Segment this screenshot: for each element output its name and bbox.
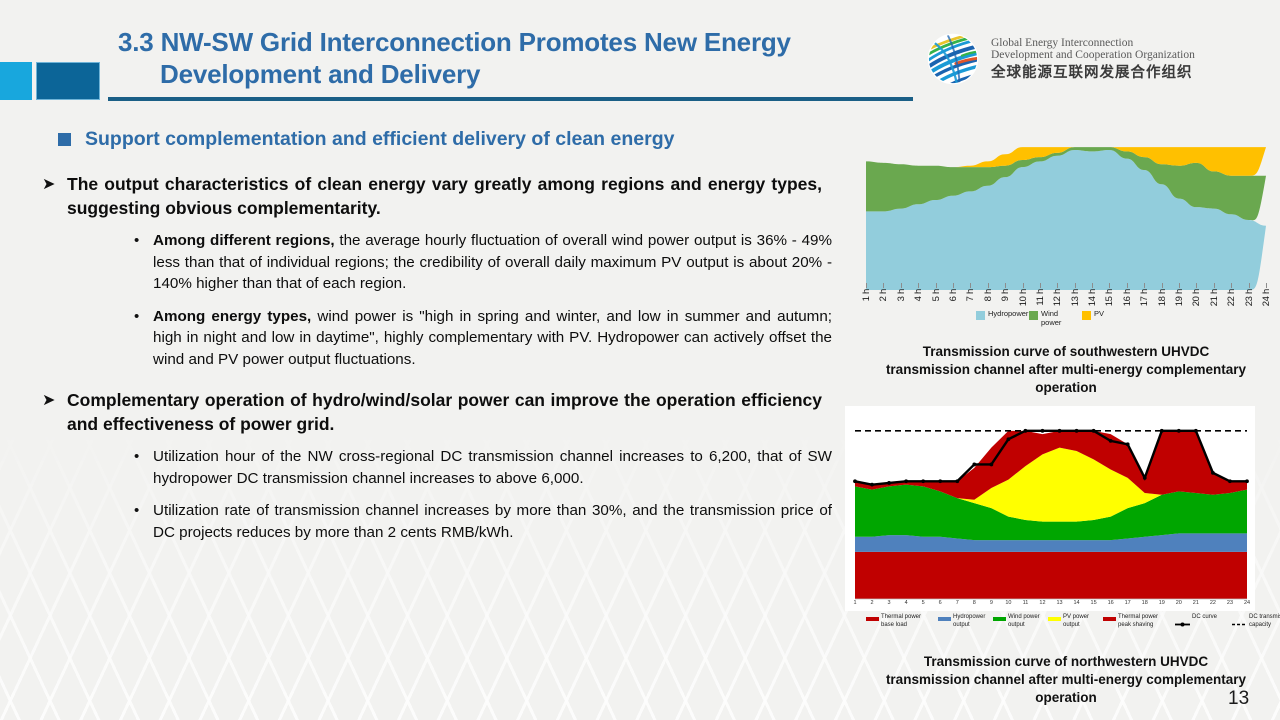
legend-item: Hydropower output: [938, 614, 986, 629]
legend-label: Hydropower output: [953, 614, 986, 629]
page-title-line1: 3.3 NW-SW Grid Interconnection Promotes …: [118, 27, 791, 57]
list-item: • Among different regions, the average h…: [134, 230, 832, 295]
axis-tick-label: 19: [1159, 600, 1165, 606]
axis-tick-label: 2 h: [878, 289, 889, 301]
axis-tick-label: 2: [871, 600, 874, 606]
northwestern-uhvdc-chart-svg: [845, 406, 1255, 611]
legend-item: Thermal power base load: [866, 614, 931, 629]
axis-tick-label: 11: [1023, 600, 1029, 606]
dot-bullet-icon: •: [134, 306, 142, 371]
axis-tick-label: 21 h: [1209, 289, 1220, 306]
list-item-label: Among energy types, wind power is "high …: [153, 306, 832, 371]
dot-bullet-icon: •: [134, 500, 142, 543]
axis-tick-label: 9: [990, 600, 993, 606]
axis-tick: [1040, 283, 1041, 288]
axis-tick: [1057, 283, 1058, 288]
axis-tick-label: 11 h: [1035, 289, 1046, 306]
legend-label: PV power output: [1063, 614, 1096, 629]
axis-tick-label: 16: [1108, 600, 1114, 606]
legend-label: PV: [1094, 310, 1104, 319]
axis-tick-label: 10: [1005, 600, 1011, 606]
axis-tick-label: 15: [1091, 600, 1097, 606]
southwestern-uhvdc-chart: [866, 130, 1266, 290]
axis-tick: [936, 283, 937, 288]
northwestern-uhvdc-chart-xaxis: 123456789101112131415161718192021222324: [845, 600, 1255, 612]
legend-line-marker-icon: [1175, 615, 1190, 633]
axis-tick-label: 14: [1074, 600, 1080, 606]
axis-tick-label: 8: [973, 600, 976, 606]
axis-tick-label: 7: [956, 600, 959, 606]
axis-tick: [1249, 283, 1250, 288]
legend-swatch: [938, 617, 951, 621]
axis-tick-label: 17: [1125, 600, 1131, 606]
axis-tick-label: 1: [853, 600, 856, 606]
slide-body: Support complementation and efficient de…: [42, 128, 832, 554]
arrow-bullet-icon: ➤: [42, 389, 58, 436]
list-item-lead: Among energy types,: [153, 308, 311, 325]
list-item: • Utilization hour of the NW cross-regio…: [134, 446, 832, 489]
logo-en-line2: Development and Cooperation Organization: [991, 49, 1195, 62]
legend-label: DC curve: [1192, 614, 1225, 622]
list-item: • Utilization rate of transmission chann…: [134, 500, 832, 543]
axis-tick: [1144, 283, 1145, 288]
legend-dashed-line-icon: [1232, 615, 1247, 633]
legend-swatch: [1103, 617, 1116, 621]
axis-tick: [918, 283, 919, 288]
northwestern-uhvdc-chart-caption: Transmission curve of northwestern UHVDC…: [881, 653, 1251, 707]
axis-tick-label: 21: [1193, 600, 1199, 606]
header-accent-block-cyan: [0, 62, 32, 100]
axis-tick-label: 5 h: [931, 289, 942, 301]
axis-tick-label: 19 h: [1174, 289, 1185, 306]
axis-tick: [1109, 283, 1110, 288]
axis-tick-label: 23: [1227, 600, 1233, 606]
legend-label: Thermal power base load: [881, 614, 931, 629]
square-bullet-icon: [58, 133, 71, 146]
axis-tick-label: 6: [939, 600, 942, 606]
axis-tick-label: 16 h: [1122, 289, 1133, 306]
axis-tick-label: 22: [1210, 600, 1216, 606]
axis-tick-label: 9 h: [1000, 289, 1011, 301]
axis-tick: [970, 283, 971, 288]
globe-logo-icon: [925, 31, 981, 87]
list-item-label: Utilization rate of transmission channel…: [153, 500, 832, 543]
list-item: ➤ Complementary operation of hydro/wind/…: [42, 389, 832, 436]
legend-swatch: [1029, 311, 1038, 320]
legend-label: Wind power output: [1008, 614, 1041, 629]
legend-label: Hydropower: [988, 310, 1021, 319]
list-item-label: Among different regions, the average hou…: [153, 230, 832, 295]
southwestern-uhvdc-chart-xaxis: 1 h2 h3 h4 h5 h6 h7 h8 h9 h10 h11 h12 h1…: [866, 283, 1266, 311]
axis-tick: [1231, 283, 1232, 288]
axis-tick-label: 6 h: [948, 289, 959, 301]
header-divider-rule: [108, 97, 913, 101]
axis-tick: [1214, 283, 1215, 288]
axis-tick: [1005, 283, 1006, 288]
page-title: 3.3 NW-SW Grid Interconnection Promotes …: [118, 26, 908, 90]
legend-item: Hydropower: [976, 310, 1021, 320]
axis-tick-label: 12 h: [1052, 289, 1063, 306]
axis-tick-label: 20 h: [1191, 289, 1202, 306]
list-item-label: Utilization hour of the NW cross-regiona…: [153, 446, 832, 489]
axis-tick-label: 3 h: [896, 289, 907, 301]
header-accent-block-blue: [36, 62, 100, 100]
legend-item: Thermal power peak shaving: [1103, 614, 1168, 629]
axis-tick-label: 23 h: [1244, 289, 1255, 306]
axis-tick: [866, 283, 867, 288]
axis-tick-label: 18: [1142, 600, 1148, 606]
list-item-label: The output characteristics of clean ener…: [67, 173, 822, 220]
list-item-label: Complementary operation of hydro/wind/so…: [67, 389, 822, 436]
legend-swatch: [866, 617, 879, 621]
axis-tick-label: 4 h: [913, 289, 924, 301]
axis-tick-label: 14 h: [1087, 289, 1098, 306]
axis-tick-label: 18 h: [1157, 289, 1168, 306]
legend-label: DC transmission capacity: [1249, 614, 1280, 629]
axis-tick-label: 15 h: [1104, 289, 1115, 306]
southwestern-uhvdc-chart-svg: [866, 130, 1266, 290]
dot-bullet-icon: •: [134, 446, 142, 489]
legend-item: Wind power: [1029, 310, 1074, 327]
section-heading: Support complementation and efficient de…: [58, 128, 832, 151]
axis-tick-label: 8 h: [983, 289, 994, 301]
legend-swatch: [976, 311, 985, 320]
legend-item: DC curve: [1175, 614, 1225, 633]
axis-tick: [988, 283, 989, 288]
legend-swatch: [1048, 617, 1061, 621]
axis-tick-label: 24: [1244, 600, 1250, 606]
axis-tick: [1092, 283, 1093, 288]
axis-tick: [1196, 283, 1197, 288]
southwestern-uhvdc-chart-legend: HydropowerWind powerPV: [976, 310, 1104, 327]
list-item: • Among energy types, wind power is "hig…: [134, 306, 832, 371]
axis-tick-label: 1 h: [861, 289, 872, 301]
northwestern-uhvdc-chart: [845, 406, 1255, 611]
axis-tick-label: 20: [1176, 600, 1182, 606]
axis-tick: [953, 283, 954, 288]
organization-logo: Global Energy Interconnection Developmen…: [925, 28, 1265, 90]
axis-tick-label: 10 h: [1018, 289, 1029, 306]
legend-label: Thermal power peak shaving: [1118, 614, 1168, 629]
legend-swatch: [1082, 311, 1091, 320]
axis-tick: [1266, 283, 1267, 288]
legend-swatch: [993, 617, 1006, 621]
axis-tick-label: 17 h: [1139, 289, 1150, 306]
logo-cn-line: 全球能源互联网发展合作组织: [991, 65, 1195, 81]
list-item-lead: Among different regions,: [153, 232, 335, 249]
page-number: 13: [1228, 688, 1249, 710]
axis-tick: [1075, 283, 1076, 288]
axis-tick-label: 3: [888, 600, 891, 606]
northwestern-uhvdc-chart-legend: Thermal power base loadHydropower output…: [866, 614, 1256, 633]
legend-item: PV: [1082, 310, 1104, 320]
axis-tick-label: 4: [905, 600, 908, 606]
legend-label: Wind power: [1041, 310, 1074, 327]
axis-tick-label: 5: [922, 600, 925, 606]
axis-tick: [1179, 283, 1180, 288]
logo-en-line1: Global Energy Interconnection: [991, 37, 1195, 50]
list-item: ➤ The output characteristics of clean en…: [42, 173, 832, 220]
axis-tick-label: 13: [1056, 600, 1062, 606]
legend-item: PV power output: [1048, 614, 1096, 629]
axis-tick-label: 7 h: [965, 289, 976, 301]
axis-tick-label: 12: [1039, 600, 1045, 606]
arrow-bullet-icon: ➤: [42, 173, 58, 220]
axis-tick: [1127, 283, 1128, 288]
legend-item: DC transmission capacity: [1232, 614, 1280, 633]
section-heading-label: Support complementation and efficient de…: [85, 128, 674, 151]
axis-tick: [901, 283, 902, 288]
logo-text-block: Global Energy Interconnection Developmen…: [991, 37, 1195, 82]
axis-tick: [1162, 283, 1163, 288]
page-title-line2: Development and Delivery: [118, 58, 908, 90]
axis-tick-label: 13 h: [1070, 289, 1081, 306]
legend-item: Wind power output: [993, 614, 1041, 629]
southwestern-uhvdc-chart-caption: Transmission curve of southwestern UHVDC…: [881, 343, 1251, 397]
axis-tick: [883, 283, 884, 288]
axis-tick-label: 24 h: [1261, 289, 1272, 306]
axis-tick-label: 22 h: [1226, 289, 1237, 306]
axis-tick: [1023, 283, 1024, 288]
dot-bullet-icon: •: [134, 230, 142, 295]
